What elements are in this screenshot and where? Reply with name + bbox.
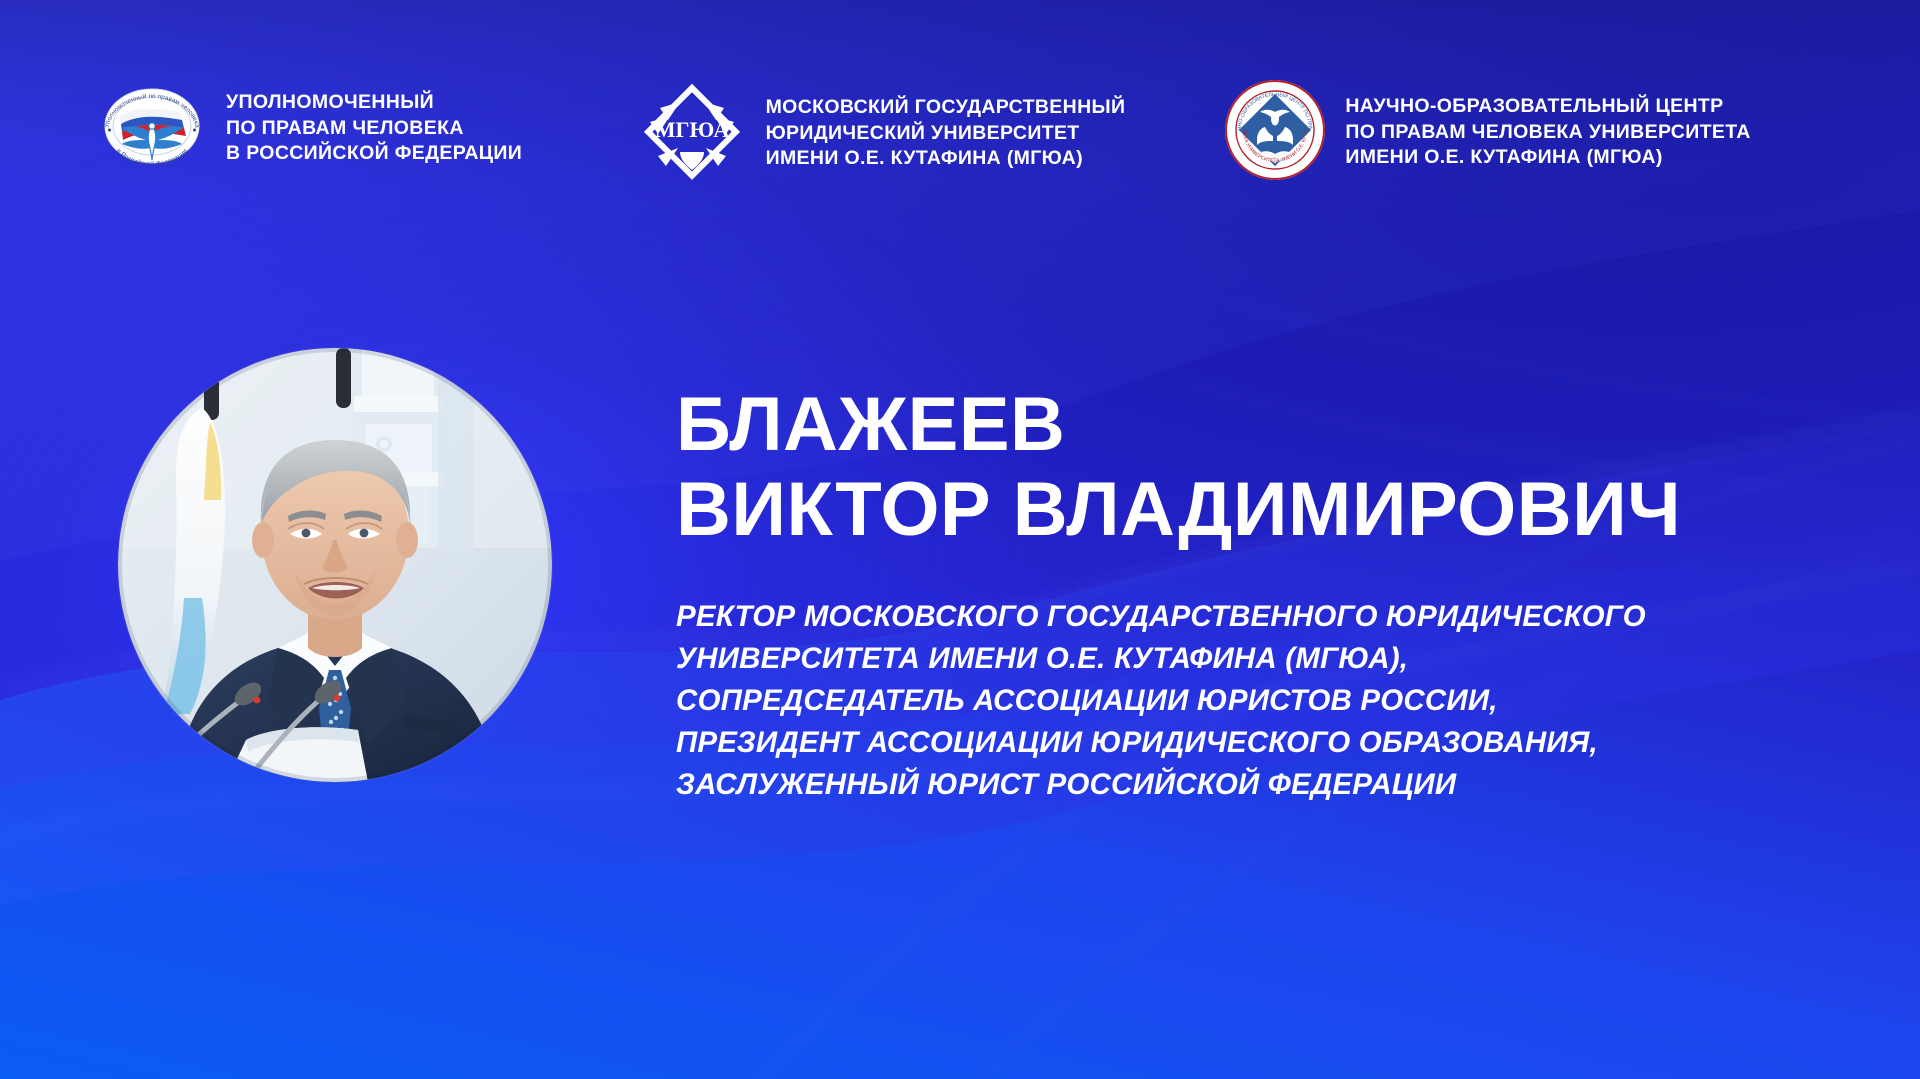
speaker-portrait-photo (118, 348, 552, 782)
msal-monogram: МГЮА (654, 117, 729, 142)
logo-block-msal: МГЮА МОСКОВСКИЙ ГОСУДАРСТВЕННЫЙ ЮРИДИЧЕС… (636, 78, 1224, 189)
partner-logo-row: Уполномоченный по правам человека в Росс… (96, 78, 1840, 189)
logo-label-ombudsman: УПОЛНОМОЧЕННЫЙ ПО ПРАВАМ ЧЕЛОВЕКА В РОСС… (226, 90, 522, 168)
speaker-text-block: БЛАЖЕЕВ ВИКТОР ВЛАДИМИРОВИЧ РЕКТОР МОСКО… (676, 382, 1856, 806)
logo-label-msal: МОСКОВСКИЙ ГОСУДАРСТВЕННЫЙ ЮРИДИЧЕСКИЙ У… (766, 95, 1126, 173)
logo-label-line: ПО ПРАВАМ ЧЕЛОВЕКА (226, 116, 522, 142)
speaker-title-line: РЕКТОР МОСКОВСКОГО ГОСУДАРСТВЕННОГО ЮРИД… (676, 596, 1856, 638)
logo-label-line: МОСКОВСКИЙ ГОСУДАРСТВЕННЫЙ (766, 95, 1126, 121)
logo-label-line: УПОЛНОМОЧЕННЫЙ (226, 90, 522, 116)
human-rights-center-seal-icon: НАУЧНО-ОБРАЗОВАТЕЛЬНЫЙ ЦЕНТР ПО ПРАВАМ Ч… (1223, 78, 1327, 187)
msal-diamond-icon: МГЮА (636, 78, 748, 189)
presentation-slide: Уполномоченный по правам человека в Росс… (0, 0, 1920, 1079)
speaker-title-line: УНИВЕРСИТЕТА ИМЕНИ О.Е. КУТАФИНА (МГЮА), (676, 638, 1856, 680)
logo-label-hr-center: НАУЧНО-ОБРАЗОВАТЕЛЬНЫЙ ЦЕНТР ПО ПРАВАМ Ч… (1345, 94, 1750, 172)
speaker-name: БЛАЖЕЕВ ВИКТОР ВЛАДИМИРОВИЧ (676, 382, 1856, 552)
speaker-title-line: ПРЕЗИДЕНТ АССОЦИАЦИИ ЮРИДИЧЕСКОГО ОБРАЗО… (676, 722, 1856, 764)
speaker-given-names: ВИКТОР ВЛАДИМИРОВИЧ (676, 467, 1856, 552)
ombudsman-emblem-icon: Уполномоченный по правам человека в Росс… (96, 78, 208, 179)
logo-label-line: ЮРИДИЧЕСКИЙ УНИВЕРСИТЕТ (766, 121, 1126, 147)
speaker-titles: РЕКТОР МОСКОВСКОГО ГОСУДАРСТВЕННОГО ЮРИД… (676, 596, 1856, 805)
logo-label-line: НАУЧНО-ОБРАЗОВАТЕЛЬНЫЙ ЦЕНТР (1345, 94, 1750, 120)
speaker-title-line: ЗАСЛУЖЕННЫЙ ЮРИСТ РОССИЙСКОЙ ФЕДЕРАЦИИ (676, 764, 1856, 806)
logo-label-line: В РОССИЙСКОЙ ФЕДЕРАЦИИ (226, 141, 522, 167)
logo-label-line: ПО ПРАВАМ ЧЕЛОВЕКА УНИВЕРСИТЕТА (1345, 120, 1750, 146)
logo-block-ombudsman: Уполномоченный по правам человека в Росс… (96, 78, 636, 179)
logo-label-line: ИМЕНИ О.Е. КУТАФИНА (МГЮА) (766, 146, 1126, 172)
speaker-title-line: СОПРЕДСЕДАТЕЛЬ АССОЦИАЦИИ ЮРИСТОВ РОССИИ… (676, 680, 1856, 722)
logo-label-line: ИМЕНИ О.Е. КУТАФИНА (МГЮА) (1345, 145, 1750, 171)
speaker-surname: БЛАЖЕЕВ (676, 382, 1856, 467)
logo-block-hr-center: НАУЧНО-ОБРАЗОВАТЕЛЬНЫЙ ЦЕНТР ПО ПРАВАМ Ч… (1223, 78, 1840, 187)
